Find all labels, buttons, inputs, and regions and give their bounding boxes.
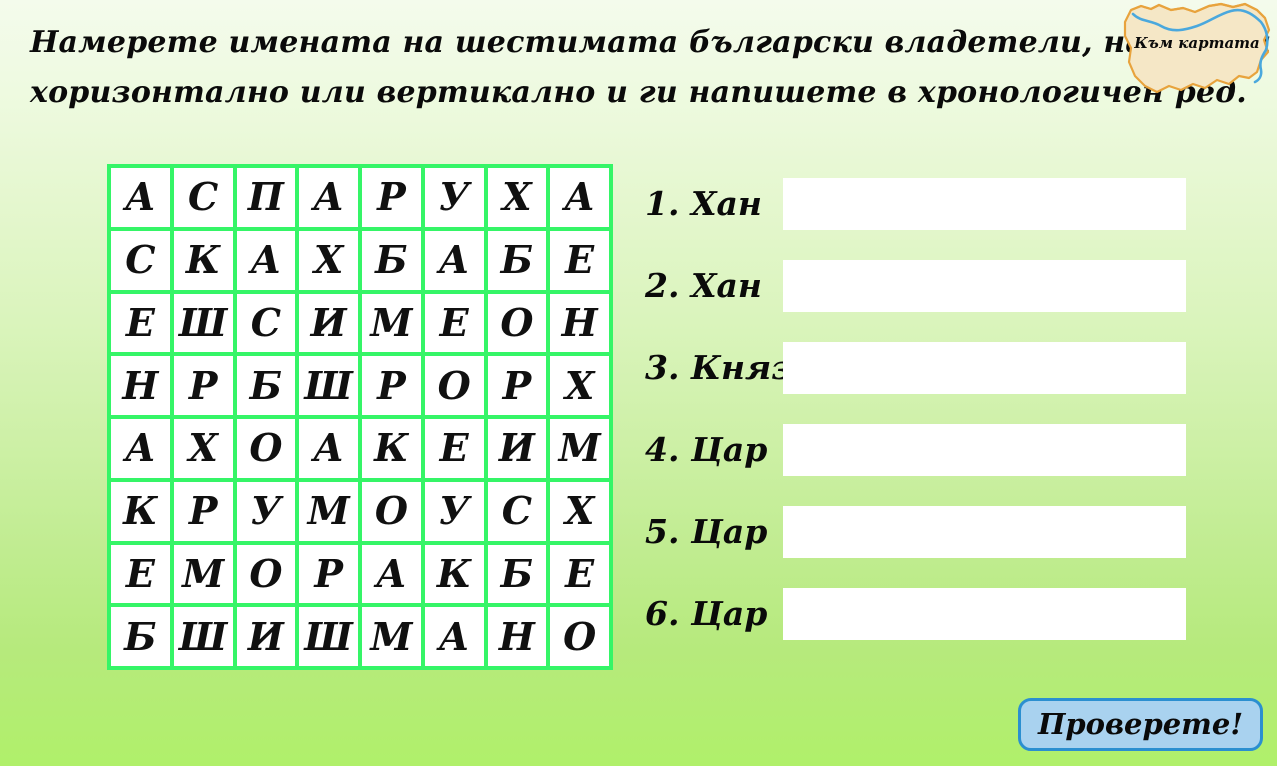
grid-cell[interactable]: О (237, 419, 296, 478)
grid-cell[interactable]: Р (362, 356, 421, 415)
grid-cell[interactable]: П (237, 168, 296, 227)
grid-cell[interactable]: Р (299, 545, 358, 604)
grid-cell[interactable]: М (550, 419, 609, 478)
grid-cell[interactable]: С (174, 168, 233, 227)
grid-cell[interactable]: Н (550, 294, 609, 353)
grid-cell[interactable]: О (362, 482, 421, 541)
grid-cell[interactable]: Б (488, 545, 547, 604)
answer-label: 3. Княз (645, 350, 783, 386)
check-button-label: Проверете! (1038, 710, 1243, 739)
grid-cell[interactable]: Б (111, 607, 170, 666)
grid-cell[interactable]: Р (174, 482, 233, 541)
grid-cell[interactable]: Б (362, 231, 421, 290)
grid-cell[interactable]: И (237, 607, 296, 666)
answer-row: 3. Княз (645, 339, 1145, 397)
grid-cell[interactable]: Б (237, 356, 296, 415)
grid-cell[interactable]: А (111, 168, 170, 227)
grid-cell[interactable]: Х (550, 356, 609, 415)
map-link-button[interactable]: Към картата (1121, 0, 1273, 98)
grid-cell[interactable]: У (425, 168, 484, 227)
answer-row: 1. Хан (645, 175, 1145, 233)
grid-cell[interactable]: Ш (299, 607, 358, 666)
page-title-line-1: Намерете имената на шестимата български … (30, 18, 1090, 68)
grid-cell[interactable]: О (237, 545, 296, 604)
grid-cell[interactable]: С (237, 294, 296, 353)
grid-cell[interactable]: А (111, 419, 170, 478)
grid-cell[interactable]: Р (174, 356, 233, 415)
grid-cell[interactable]: Е (550, 545, 609, 604)
grid-cell[interactable]: Е (425, 419, 484, 478)
grid-cell[interactable]: К (425, 545, 484, 604)
grid-cell[interactable]: М (362, 607, 421, 666)
answer-label: 6. Цар (645, 596, 783, 632)
answer-input[interactable] (783, 506, 1186, 558)
grid-cell[interactable]: А (299, 168, 358, 227)
answer-row: 6. Цар (645, 585, 1145, 643)
grid-cell[interactable]: М (174, 545, 233, 604)
grid-cell[interactable]: К (111, 482, 170, 541)
answer-input[interactable] (783, 588, 1186, 640)
word-search-grid[interactable]: АСПАРУХАСКАХБАБЕЕШСИМЕОННРБШРОРХАХОАКЕИМ… (107, 164, 613, 670)
answer-label: 5. Цар (645, 514, 783, 550)
answer-label: 2. Хан (645, 268, 783, 304)
grid-cell[interactable]: Е (425, 294, 484, 353)
grid-cell[interactable]: Ш (299, 356, 358, 415)
grid-cell[interactable]: Х (299, 231, 358, 290)
grid-cell[interactable]: И (299, 294, 358, 353)
answer-label: 4. Цар (645, 432, 783, 468)
answer-label: 1. Хан (645, 186, 783, 222)
grid-cell[interactable]: А (550, 168, 609, 227)
grid-cell[interactable]: А (299, 419, 358, 478)
grid-cell[interactable]: Х (174, 419, 233, 478)
grid-cell[interactable]: К (174, 231, 233, 290)
grid-cell[interactable]: Е (111, 294, 170, 353)
grid-cell[interactable]: А (425, 607, 484, 666)
grid-cell[interactable]: И (488, 419, 547, 478)
grid-cell[interactable]: У (425, 482, 484, 541)
check-button[interactable]: Проверете! (1018, 698, 1263, 751)
grid-cell[interactable]: Х (488, 168, 547, 227)
grid-cell[interactable]: Е (111, 545, 170, 604)
grid-cell[interactable]: М (299, 482, 358, 541)
grid-cell[interactable]: А (425, 231, 484, 290)
grid-cell[interactable]: О (488, 294, 547, 353)
grid-cell[interactable]: Р (362, 168, 421, 227)
grid-cell[interactable]: Р (488, 356, 547, 415)
answer-input[interactable] (783, 342, 1186, 394)
answer-row: 4. Цар (645, 421, 1145, 479)
grid-cell[interactable]: Ш (174, 607, 233, 666)
bulgaria-map-icon (1121, 0, 1273, 98)
grid-cell[interactable]: Н (111, 356, 170, 415)
grid-cell[interactable]: С (488, 482, 547, 541)
grid-cell[interactable]: Е (550, 231, 609, 290)
grid-cell[interactable]: О (550, 607, 609, 666)
grid-cell[interactable]: Х (550, 482, 609, 541)
grid-cell[interactable]: Б (488, 231, 547, 290)
grid-cell[interactable]: Ш (174, 294, 233, 353)
grid-cell[interactable]: Н (488, 607, 547, 666)
answers-panel: 1. Хан2. Хан3. Княз4. Цар5. Цар6. Цар (645, 175, 1145, 670)
answer-row: 5. Цар (645, 503, 1145, 561)
answer-input[interactable] (783, 424, 1186, 476)
grid-cell[interactable]: К (362, 419, 421, 478)
grid-cell[interactable]: А (362, 545, 421, 604)
grid-cell[interactable]: М (362, 294, 421, 353)
grid-cell[interactable]: А (237, 231, 296, 290)
grid-cell[interactable]: У (237, 482, 296, 541)
grid-cell[interactable]: С (111, 231, 170, 290)
answer-row: 2. Хан (645, 257, 1145, 315)
page-title-line-2: хоризонтално или вертикално и ги напишет… (30, 68, 1090, 118)
answer-input[interactable] (783, 178, 1186, 230)
page-title: Намерете имената на шестимата български … (30, 18, 1090, 118)
answer-input[interactable] (783, 260, 1186, 312)
grid-cell[interactable]: О (425, 356, 484, 415)
